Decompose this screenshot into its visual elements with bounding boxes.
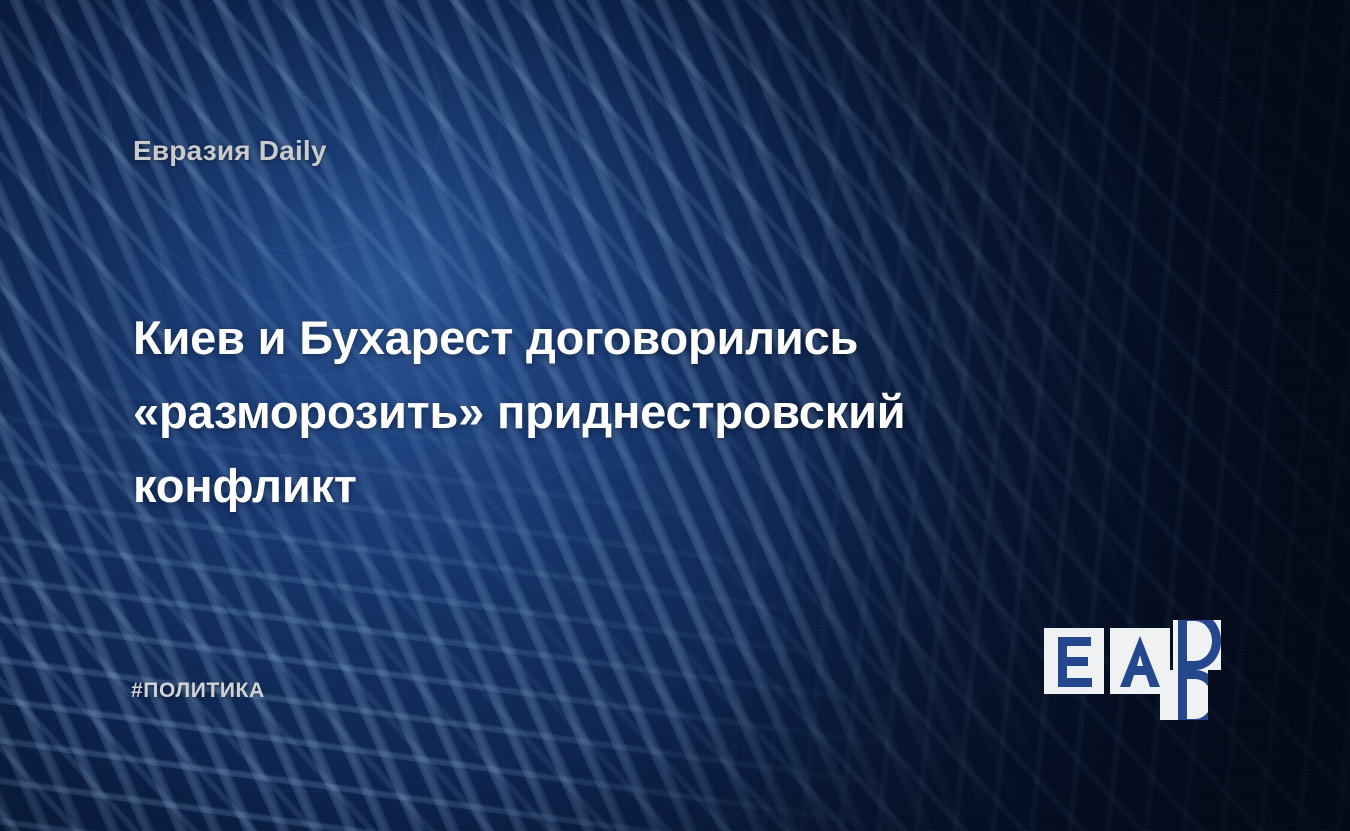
- news-card: Евразия Daily Киев и Бухарест договорили…: [0, 0, 1350, 831]
- logo-tile-e: [1044, 628, 1104, 694]
- card-content: Евразия Daily Киев и Бухарест договорили…: [0, 0, 1350, 831]
- page-title: Киев и Бухарест договорились «разморозит…: [133, 301, 1073, 523]
- brand-name: Евразия Daily: [133, 135, 327, 167]
- logo-tile-d-bottom: [1160, 670, 1208, 720]
- eadaily-logo: [1044, 620, 1224, 706]
- category-hashtag: #ПОЛИТИКА: [131, 679, 265, 703]
- logo-tile-d-top: [1173, 620, 1221, 670]
